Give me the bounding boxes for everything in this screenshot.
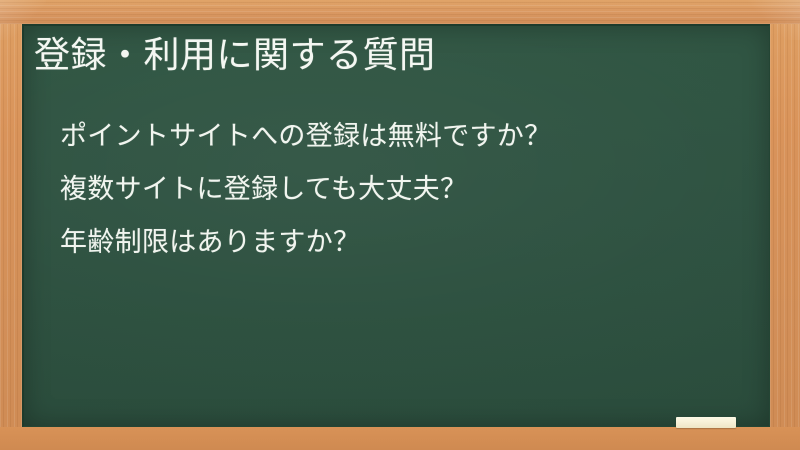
blackboard-frame: 登録・利用に関する質問 ポイントサイトへの登録は無料ですか？ 複数サイトに登録し…: [0, 0, 800, 450]
question-item: 複数サイトに登録しても大丈夫？: [60, 163, 551, 216]
question-item: ポイントサイトへの登録は無料ですか？: [60, 110, 551, 163]
board-title: 登録・利用に関する質問: [34, 33, 436, 77]
chalk-stick-icon: [676, 417, 736, 428]
question-item: 年齢制限はありますか？: [60, 216, 551, 269]
frame-bottom-ledge: [0, 427, 800, 450]
question-list: ポイントサイトへの登録は無料ですか？ 複数サイトに登録しても大丈夫？ 年齢制限は…: [60, 110, 551, 269]
chalkboard-surface: 登録・利用に関する質問 ポイントサイトへの登録は無料ですか？ 複数サイトに登録し…: [22, 24, 770, 427]
frame-top-rail: [0, 0, 800, 24]
